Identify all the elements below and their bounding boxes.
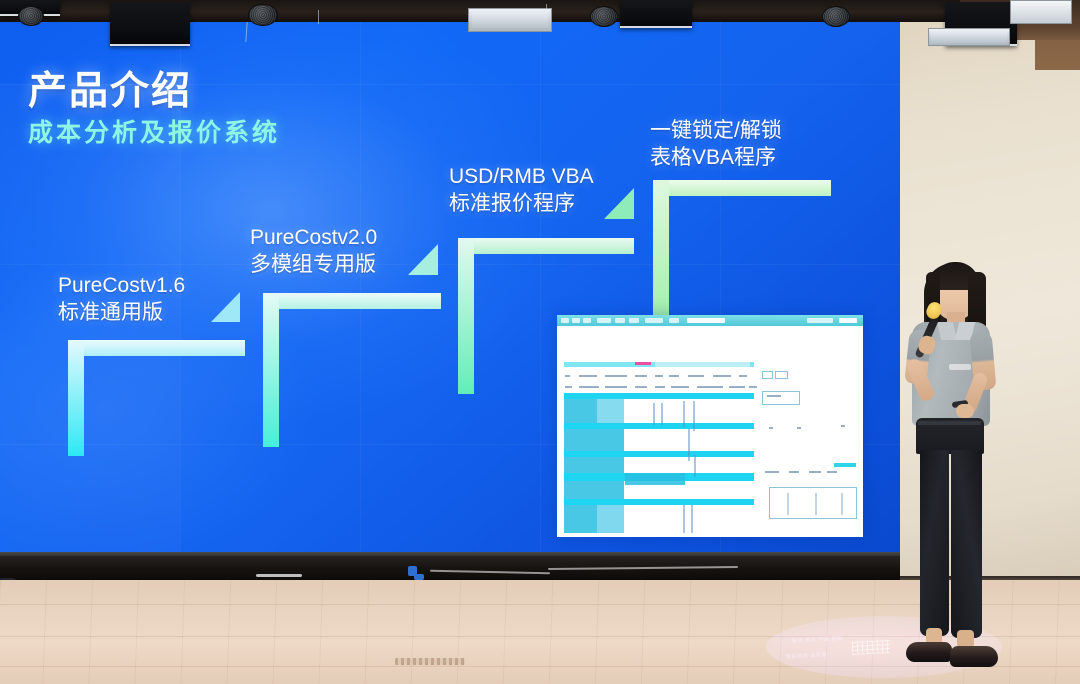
- presenter-leg-left: [920, 450, 949, 636]
- step-4-line2: 表格VBA程序: [650, 145, 782, 172]
- presentation-photo-scene: 产品介绍 成本分析及报价系统 一键锁定/解锁 表格VBA程序 USD/RMB V…: [0, 0, 1080, 684]
- light-panel: [1010, 0, 1072, 24]
- step-4-bracket-leg: [653, 180, 669, 328]
- embedded-spreadsheet-screenshot: [557, 315, 863, 537]
- step-2-arrow-icon: [408, 244, 438, 275]
- led-wall-screen: 产品介绍 成本分析及报价系统 一键锁定/解锁 表格VBA程序 USD/RMB V…: [0, 12, 900, 564]
- floor-vent: [395, 658, 465, 665]
- hanging-wire: [318, 10, 319, 24]
- step-4-label: 一键锁定/解锁 表格VBA程序: [650, 118, 782, 172]
- light-panel: [468, 8, 552, 32]
- step-1-label: PureCostv1.6 标准通用版: [58, 273, 185, 327]
- slide-subtitle: 成本分析及报价系统: [28, 113, 280, 149]
- step-3-line2: 标准报价程序: [449, 191, 594, 218]
- round-speaker: [248, 4, 278, 26]
- step-2-bracket-arm: [263, 293, 441, 309]
- light-panel: [928, 28, 1010, 46]
- step-2-line1: PureCostv2.0: [250, 226, 377, 249]
- step-3-bracket-leg: [458, 238, 474, 394]
- presenter-shirt-logo: [949, 364, 971, 370]
- step-3-arrow-icon: [604, 188, 634, 219]
- step-3-line1: USD/RMB VBA: [449, 165, 594, 188]
- step-1-line2: 标准通用版: [58, 300, 185, 327]
- step-1-bracket-leg: [68, 340, 84, 456]
- floor-cable: [256, 574, 302, 577]
- step-1-line1: PureCostv1.6: [58, 274, 185, 297]
- hanging-wire: [546, 4, 547, 16]
- step-1-arrow-icon: [211, 292, 240, 322]
- round-speaker: [18, 6, 44, 26]
- presenter-leg-right: [951, 450, 982, 638]
- led-seam: [540, 12, 541, 564]
- round-speaker: [822, 6, 850, 27]
- step-2-bracket-leg: [263, 293, 279, 447]
- step-2-line2: 多模组专用版: [250, 252, 377, 279]
- step-1-bracket-arm: [68, 340, 245, 356]
- stage-light-box: [620, 0, 692, 28]
- step-4-bracket-arm: [653, 180, 831, 196]
- led-seam: [0, 264, 900, 265]
- step-4-line1: 一键锁定/解锁: [650, 119, 782, 142]
- presenter-shoe-right: [950, 646, 998, 667]
- presenter-shoe-left: [906, 642, 952, 662]
- step-3-label: USD/RMB VBA 标准报价程序: [449, 164, 594, 218]
- step-3-bracket-arm: [458, 238, 634, 254]
- led-seam: [360, 12, 361, 564]
- slide-title: 产品介绍: [28, 60, 192, 116]
- presenter-belt: [918, 421, 981, 425]
- presenter-hand-right: [956, 404, 974, 418]
- stage-light-box: [110, 2, 190, 46]
- round-speaker: [590, 6, 618, 27]
- gobo-grid-pattern: [852, 639, 891, 655]
- step-2-label: PureCostv2.0 多模组专用版: [250, 225, 377, 279]
